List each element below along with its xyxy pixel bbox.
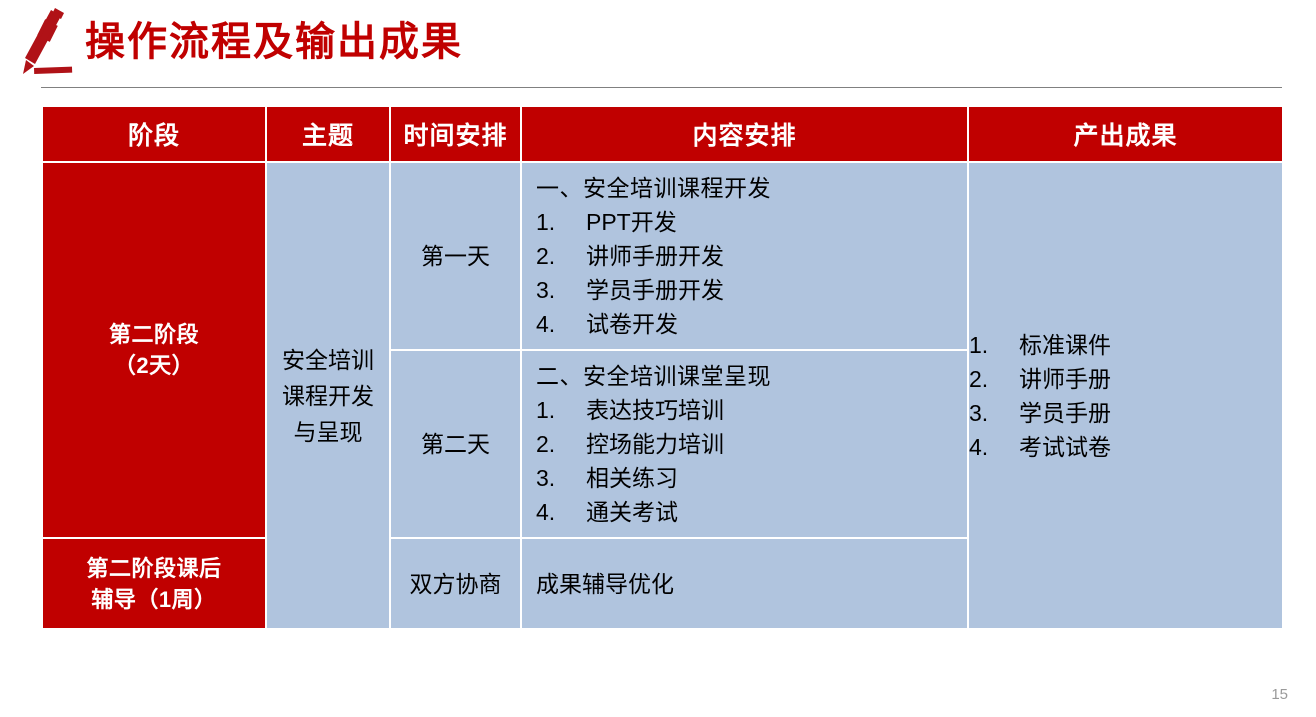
stage-cell-post-course: 第二阶段课后 辅导（1周） bbox=[42, 538, 266, 629]
content-cell-day-one: 一、安全培训课程开发 1. PPT开发 2. 讲师手册开发 3. 学员手册开发 bbox=[521, 162, 968, 350]
list-item: 2. 讲师手册开发 bbox=[536, 239, 967, 273]
stage-label-line2: （2天） bbox=[43, 350, 265, 381]
list-item-number: 2. bbox=[969, 362, 1019, 396]
list-item: 4. 考试试卷 bbox=[969, 430, 1282, 464]
list-item: 3. 学员手册 bbox=[969, 396, 1282, 430]
column-header-content: 内容安排 bbox=[521, 106, 968, 162]
list-item-text: 学员手册开发 bbox=[586, 273, 724, 307]
list-item-number: 4. bbox=[536, 495, 586, 529]
content-cell-negotiation: 成果辅导优化 bbox=[521, 538, 968, 629]
pencil-icon bbox=[17, 6, 79, 78]
stage-cell-phase-two: 第二阶段 （2天） bbox=[42, 162, 266, 538]
list-item: 4. 试卷开发 bbox=[536, 307, 967, 341]
schedule-table: 阶段 主题 时间安排 内容安排 产出成果 第二阶段 （2天） 安全培训 课程开发… bbox=[41, 105, 1284, 630]
theme-line3: 与呈现 bbox=[267, 414, 389, 450]
page-number: 15 bbox=[1271, 686, 1288, 703]
content-heading: 一、安全培训课程开发 bbox=[536, 171, 967, 205]
list-item-text: 控场能力培训 bbox=[586, 427, 724, 461]
list-item-number: 2. bbox=[536, 239, 586, 273]
content-list: 1. 表达技巧培训 2. 控场能力培训 3. 相关练习 4. 通关考试 bbox=[536, 393, 967, 529]
table-row: 第二阶段 （2天） 安全培训 课程开发 与呈现 第一天 一、安全培训课程开发 1… bbox=[42, 162, 1283, 350]
time-cell-day-one: 第一天 bbox=[390, 162, 521, 350]
title-divider bbox=[41, 87, 1282, 88]
list-item-number: 1. bbox=[536, 205, 586, 239]
list-item-number: 2. bbox=[536, 427, 586, 461]
output-cell: 1. 标准课件 2. 讲师手册 3. 学员手册 4. 考试试卷 bbox=[968, 162, 1283, 629]
list-item: 4. 通关考试 bbox=[536, 495, 967, 529]
list-item-number: 1. bbox=[969, 328, 1019, 362]
list-item: 1. 表达技巧培训 bbox=[536, 393, 967, 427]
list-item-number: 3. bbox=[536, 461, 586, 495]
column-header-stage: 阶段 bbox=[42, 106, 266, 162]
list-item: 3. 学员手册开发 bbox=[536, 273, 967, 307]
list-item-number: 1. bbox=[536, 393, 586, 427]
list-item-text: 讲师手册开发 bbox=[586, 239, 724, 273]
output-list: 1. 标准课件 2. 讲师手册 3. 学员手册 4. 考试试卷 bbox=[969, 328, 1282, 464]
list-item-text: 相关练习 bbox=[586, 461, 678, 495]
list-item-text: PPT开发 bbox=[586, 205, 677, 239]
content-heading: 二、安全培训课堂呈现 bbox=[536, 359, 967, 393]
list-item-text: 标准课件 bbox=[1019, 328, 1111, 362]
list-item-number: 3. bbox=[969, 396, 1019, 430]
column-header-output: 产出成果 bbox=[968, 106, 1283, 162]
list-item-text: 通关考试 bbox=[586, 495, 678, 529]
stage-label-line1: 第二阶段 bbox=[43, 319, 265, 350]
list-item-text: 表达技巧培训 bbox=[586, 393, 724, 427]
list-item-number: 4. bbox=[536, 307, 586, 341]
stage-label-line1: 第二阶段课后 bbox=[43, 553, 265, 584]
list-item-text: 讲师手册 bbox=[1019, 362, 1111, 396]
table-header-row: 阶段 主题 时间安排 内容安排 产出成果 bbox=[42, 106, 1283, 162]
time-cell-day-two: 第二天 bbox=[390, 350, 521, 538]
time-cell-negotiation: 双方协商 bbox=[390, 538, 521, 629]
theme-line1: 安全培训 bbox=[267, 342, 389, 378]
content-list: 1. PPT开发 2. 讲师手册开发 3. 学员手册开发 4. 试卷开发 bbox=[536, 205, 967, 341]
list-item: 2. 控场能力培训 bbox=[536, 427, 967, 461]
theme-cell: 安全培训 课程开发 与呈现 bbox=[266, 162, 390, 629]
list-item: 1. 标准课件 bbox=[969, 328, 1282, 362]
list-item-number: 3. bbox=[536, 273, 586, 307]
content-cell-day-two: 二、安全培训课堂呈现 1. 表达技巧培训 2. 控场能力培训 3. 相关练习 bbox=[521, 350, 968, 538]
column-header-theme: 主题 bbox=[266, 106, 390, 162]
page-title: 操作流程及输出成果 bbox=[85, 12, 463, 72]
stage-label-line2: 辅导（1周） bbox=[43, 584, 265, 615]
list-item: 2. 讲师手册 bbox=[969, 362, 1282, 396]
list-item: 3. 相关练习 bbox=[536, 461, 967, 495]
list-item: 1. PPT开发 bbox=[536, 205, 967, 239]
list-item-text: 考试试卷 bbox=[1019, 430, 1111, 464]
list-item-number: 4. bbox=[969, 430, 1019, 464]
slide-header: 操作流程及输出成果 bbox=[0, 0, 1316, 88]
theme-line2: 课程开发 bbox=[267, 378, 389, 414]
column-header-time: 时间安排 bbox=[390, 106, 521, 162]
list-item-text: 试卷开发 bbox=[586, 307, 678, 341]
list-item-text: 学员手册 bbox=[1019, 396, 1111, 430]
